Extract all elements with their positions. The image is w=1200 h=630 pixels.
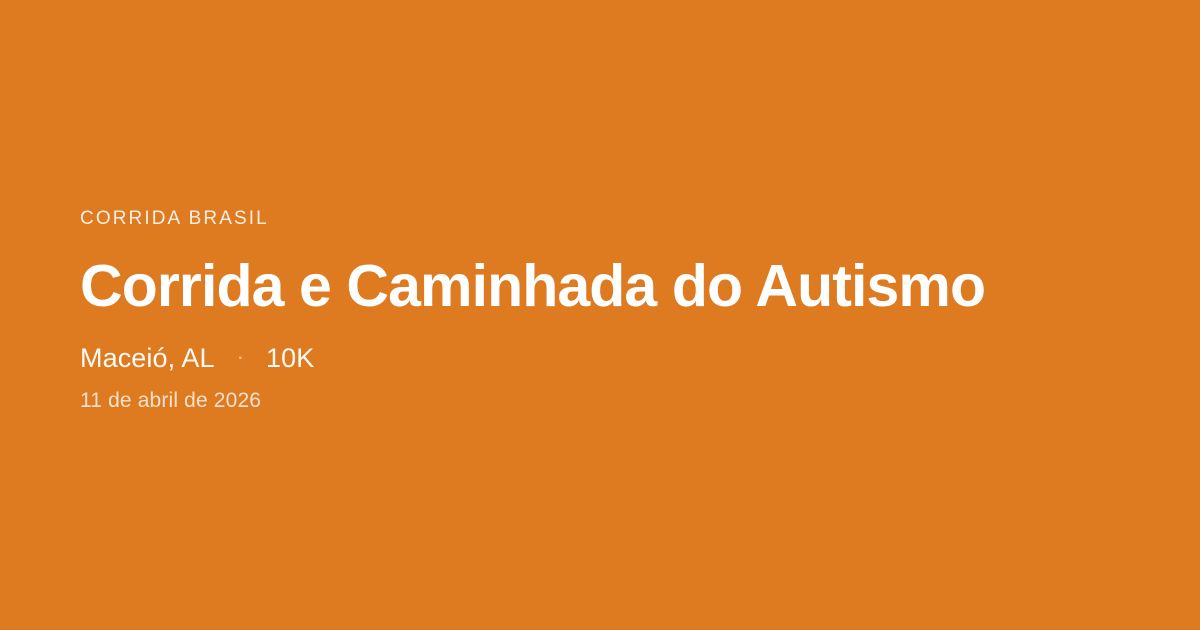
event-title: Corrida e Caminhada do Autismo [80,255,1120,318]
event-location: Maceió, AL [80,343,215,374]
brand-eyebrow: CORRIDA BRASIL [80,209,1120,228]
event-meta-row: Maceió, AL · 10K [80,343,1120,374]
event-content-block: CORRIDA BRASIL Corrida e Caminhada do Au… [80,209,1120,414]
meta-separator-dot: · [237,344,244,369]
event-date: 11 de abril de 2026 [80,388,1120,413]
event-share-card: CORRIDA BRASIL Corrida e Caminhada do Au… [0,0,1200,630]
event-distance: 10K [266,343,314,374]
